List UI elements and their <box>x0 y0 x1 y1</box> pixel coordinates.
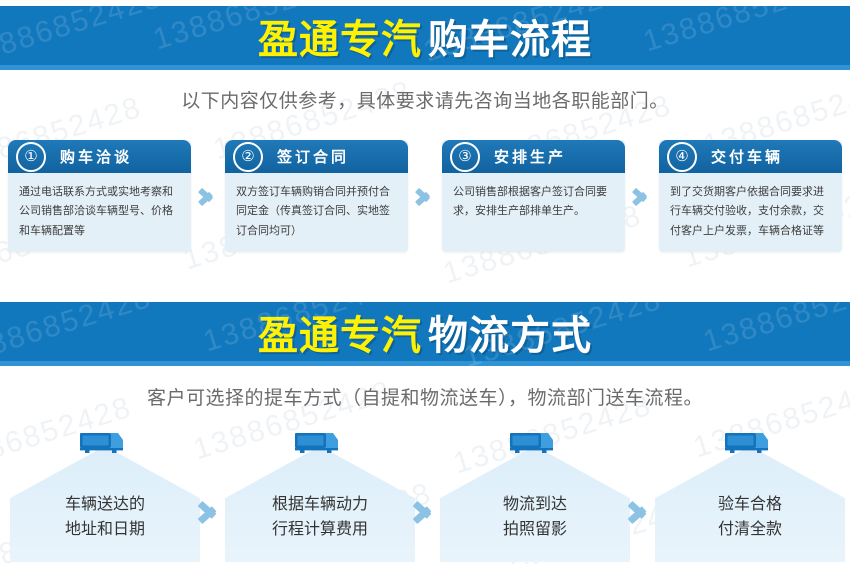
logistics-card-text: 物流到达 拍照留影 <box>440 492 630 542</box>
chevron-right-icon <box>634 183 650 209</box>
logistics-card-text: 验车合格 付清全款 <box>655 492 845 542</box>
purchase-steps-row: ① 购车洽谈 通过电话联系方式或实地考察和公司销售部洽谈车辆型号、价格和车辆配置… <box>0 140 850 258</box>
truck-icon <box>294 430 342 456</box>
logistics-card-text: 根据车辆动力 行程计算费用 <box>225 492 415 542</box>
purchase-banner-subject: 购车流程 <box>428 17 592 63</box>
logistics-card-line1: 物流到达 <box>440 492 630 517</box>
logistics-card-line1: 车辆送达的 <box>10 492 200 517</box>
logistics-card-line2: 拍照留影 <box>440 517 630 542</box>
logistics-card-text: 车辆送达的 地址和日期 <box>10 492 200 542</box>
step-header: ③ 安排生产 <box>442 140 625 173</box>
row-edge-spacer <box>0 140 8 252</box>
chevron-right-icon <box>200 183 216 209</box>
purchase-process-banner: 盈通专汽购车流程 <box>0 6 850 70</box>
logistics-subtitle: 客户可选择的提车方式（自提和物流送车），物流部门送车流程。 <box>0 383 850 410</box>
step-header: ② 签订合同 <box>225 140 408 173</box>
row-edge-spacer <box>842 140 850 252</box>
step-card[interactable]: ② 签订合同 双方签订车辆购销合同并预付合同定金（传真签订合同、实地签订合同均可… <box>225 140 408 252</box>
logistics-card[interactable]: 验车合格 付清全款 <box>655 430 840 562</box>
chevron-right-icon <box>415 495 435 529</box>
purchase-banner-title: 盈通专汽购车流程 <box>258 7 592 69</box>
truck-icon <box>509 430 557 456</box>
step-card[interactable]: ① 购车洽谈 通过电话联系方式或实地考察和公司销售部洽谈车辆型号、价格和车辆配置… <box>8 140 191 252</box>
step-title: 签订合同 <box>277 146 349 167</box>
step-description: 双方签订车辆购销合同并预付合同定金（传真签订合同、实地签订合同均可） <box>225 173 408 240</box>
logistics-banner-title: 盈通专汽物流方式 <box>258 303 592 365</box>
chevron-right-icon <box>200 495 220 529</box>
brand-name: 盈通专汽 <box>258 313 422 359</box>
chevron-right-icon <box>417 183 433 209</box>
step-title: 购车洽谈 <box>60 146 132 167</box>
step-card[interactable]: ③ 安排生产 公司销售部根据客户签订合同要求，安排生产部排单生产。 <box>442 140 625 252</box>
logistics-card[interactable]: 物流到达 拍照留影 <box>440 430 625 562</box>
logistics-card[interactable]: 根据车辆动力 行程计算费用 <box>225 430 410 562</box>
chevron-right-icon <box>630 495 650 529</box>
step-number-badge: ③ <box>450 142 480 172</box>
logistics-banner-subject: 物流方式 <box>428 313 592 359</box>
step-header: ① 购车洽谈 <box>8 140 191 173</box>
logistics-banner: 盈通专汽物流方式 <box>0 302 850 366</box>
logistics-cards-row: 车辆送达的 地址和日期 根据车辆动力 行程计算费用 <box>0 430 850 564</box>
truck-icon <box>724 430 772 456</box>
step-header: ④ 交付车辆 <box>659 140 842 173</box>
brand-name: 盈通专汽 <box>258 17 422 63</box>
logistics-card[interactable]: 车辆送达的 地址和日期 <box>10 430 195 562</box>
truck-icon <box>79 430 127 456</box>
step-title: 安排生产 <box>494 146 566 167</box>
step-number-badge: ④ <box>667 142 697 172</box>
step-card[interactable]: ④ 交付车辆 到了交货期客户依据合同要求进行车辆交付验收，支付余款，交付客户上户… <box>659 140 842 252</box>
logistics-card-line2: 行程计算费用 <box>225 517 415 542</box>
purchase-subtitle: 以下内容仅供参考，具体要求请先咨询当地各职能部门。 <box>0 86 850 113</box>
row-edge-spacer <box>0 430 10 562</box>
logistics-card-line1: 验车合格 <box>655 492 845 517</box>
step-description: 公司销售部根据客户签订合同要求，安排生产部排单生产。 <box>442 173 625 221</box>
step-arrow-gap <box>625 140 659 252</box>
logistics-card-line1: 根据车辆动力 <box>225 492 415 517</box>
step-arrow-gap <box>408 140 442 252</box>
step-title: 交付车辆 <box>711 146 783 167</box>
step-description: 到了交货期客户依据合同要求进行车辆交付验收，支付余款，交付客户上户发票，车辆合格… <box>659 173 842 240</box>
step-description: 通过电话联系方式或实地考察和公司销售部洽谈车辆型号、价格和车辆配置等 <box>8 173 191 240</box>
logistics-card-line2: 付清全款 <box>655 517 845 542</box>
step-number-badge: ① <box>16 142 46 172</box>
step-number-badge: ② <box>233 142 263 172</box>
logistics-card-line2: 地址和日期 <box>10 517 200 542</box>
step-arrow-gap <box>191 140 225 252</box>
